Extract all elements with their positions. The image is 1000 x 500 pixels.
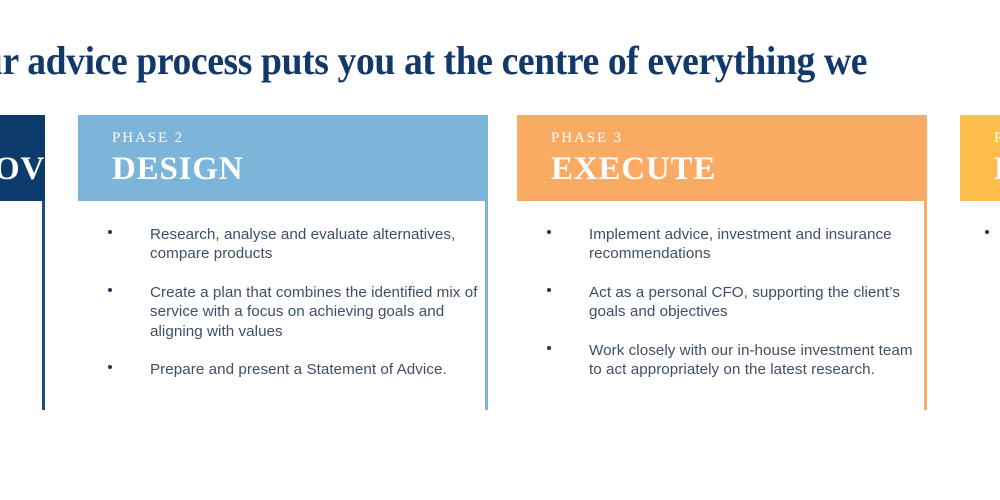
list-item: Act as a personal CFO, supporting the cl…: [547, 283, 919, 322]
list-item: Research, analyse and evaluate alternati…: [108, 225, 480, 264]
phase-name: EXECUTE: [551, 149, 927, 189]
phase-label: PHASE 3: [551, 129, 927, 147]
phase-name: DISCOVER: [0, 149, 45, 189]
phase-accent-line: [924, 201, 927, 410]
list-item: Implement advice, investment and insuran…: [547, 225, 919, 264]
list-item-text: Act as a personal CFO, supporting the cl…: [589, 283, 919, 322]
bullet-dot-icon: [547, 230, 551, 234]
phase-card-header: PHASE 2 DESIGN: [78, 115, 488, 201]
phase-name: DESIGN: [112, 149, 488, 189]
phase-label: PHASE 4: [994, 129, 1000, 147]
list-item: Review progress against goals: [985, 225, 1000, 244]
bullet-dot-icon: [108, 230, 112, 234]
list-item: Create a plan that combines the identifi…: [108, 283, 480, 341]
bullet-dot-icon: [547, 346, 551, 350]
list-item-text: Create a plan that combines the identifi…: [150, 283, 480, 341]
list-item-text: Implement advice, investment and insuran…: [589, 225, 919, 264]
phase-bullet-list: Review progress against goals: [985, 225, 1000, 263]
slide-canvas: ur advice process puts you at the centre…: [0, 0, 1000, 500]
list-item-text: Prepare and present a Statement of Advic…: [150, 360, 480, 379]
list-item: Work closely with our in-house investmen…: [547, 341, 919, 380]
bullet-dot-icon: [547, 288, 551, 292]
phase-card-header: PHASE 4 REVIEW: [960, 115, 1000, 201]
phase-name: REVIEW: [994, 149, 1000, 189]
phase-label: PHASE 1: [0, 129, 45, 147]
phase-bullet-list: Research, analyse and evaluate alternati…: [108, 225, 480, 398]
bullet-dot-icon: [108, 365, 112, 369]
phase-card-header: PHASE 1 DISCOVER: [0, 115, 45, 201]
bullet-dot-icon: [985, 230, 989, 234]
list-item-text: Research, analyse and evaluate alternati…: [150, 225, 480, 264]
phase-card-header: PHASE 3 EXECUTE: [517, 115, 927, 201]
phase-bullet-list: Implement advice, investment and insuran…: [547, 225, 919, 398]
phase-accent-line: [42, 201, 45, 410]
phase-accent-line: [485, 201, 488, 410]
phase-label: PHASE 2: [112, 129, 488, 147]
page-title: ur advice process puts you at the centre…: [0, 38, 960, 84]
bullet-dot-icon: [108, 288, 112, 292]
list-item: Prepare and present a Statement of Advic…: [108, 360, 480, 379]
list-item-text: Work closely with our in-house investmen…: [589, 341, 919, 380]
